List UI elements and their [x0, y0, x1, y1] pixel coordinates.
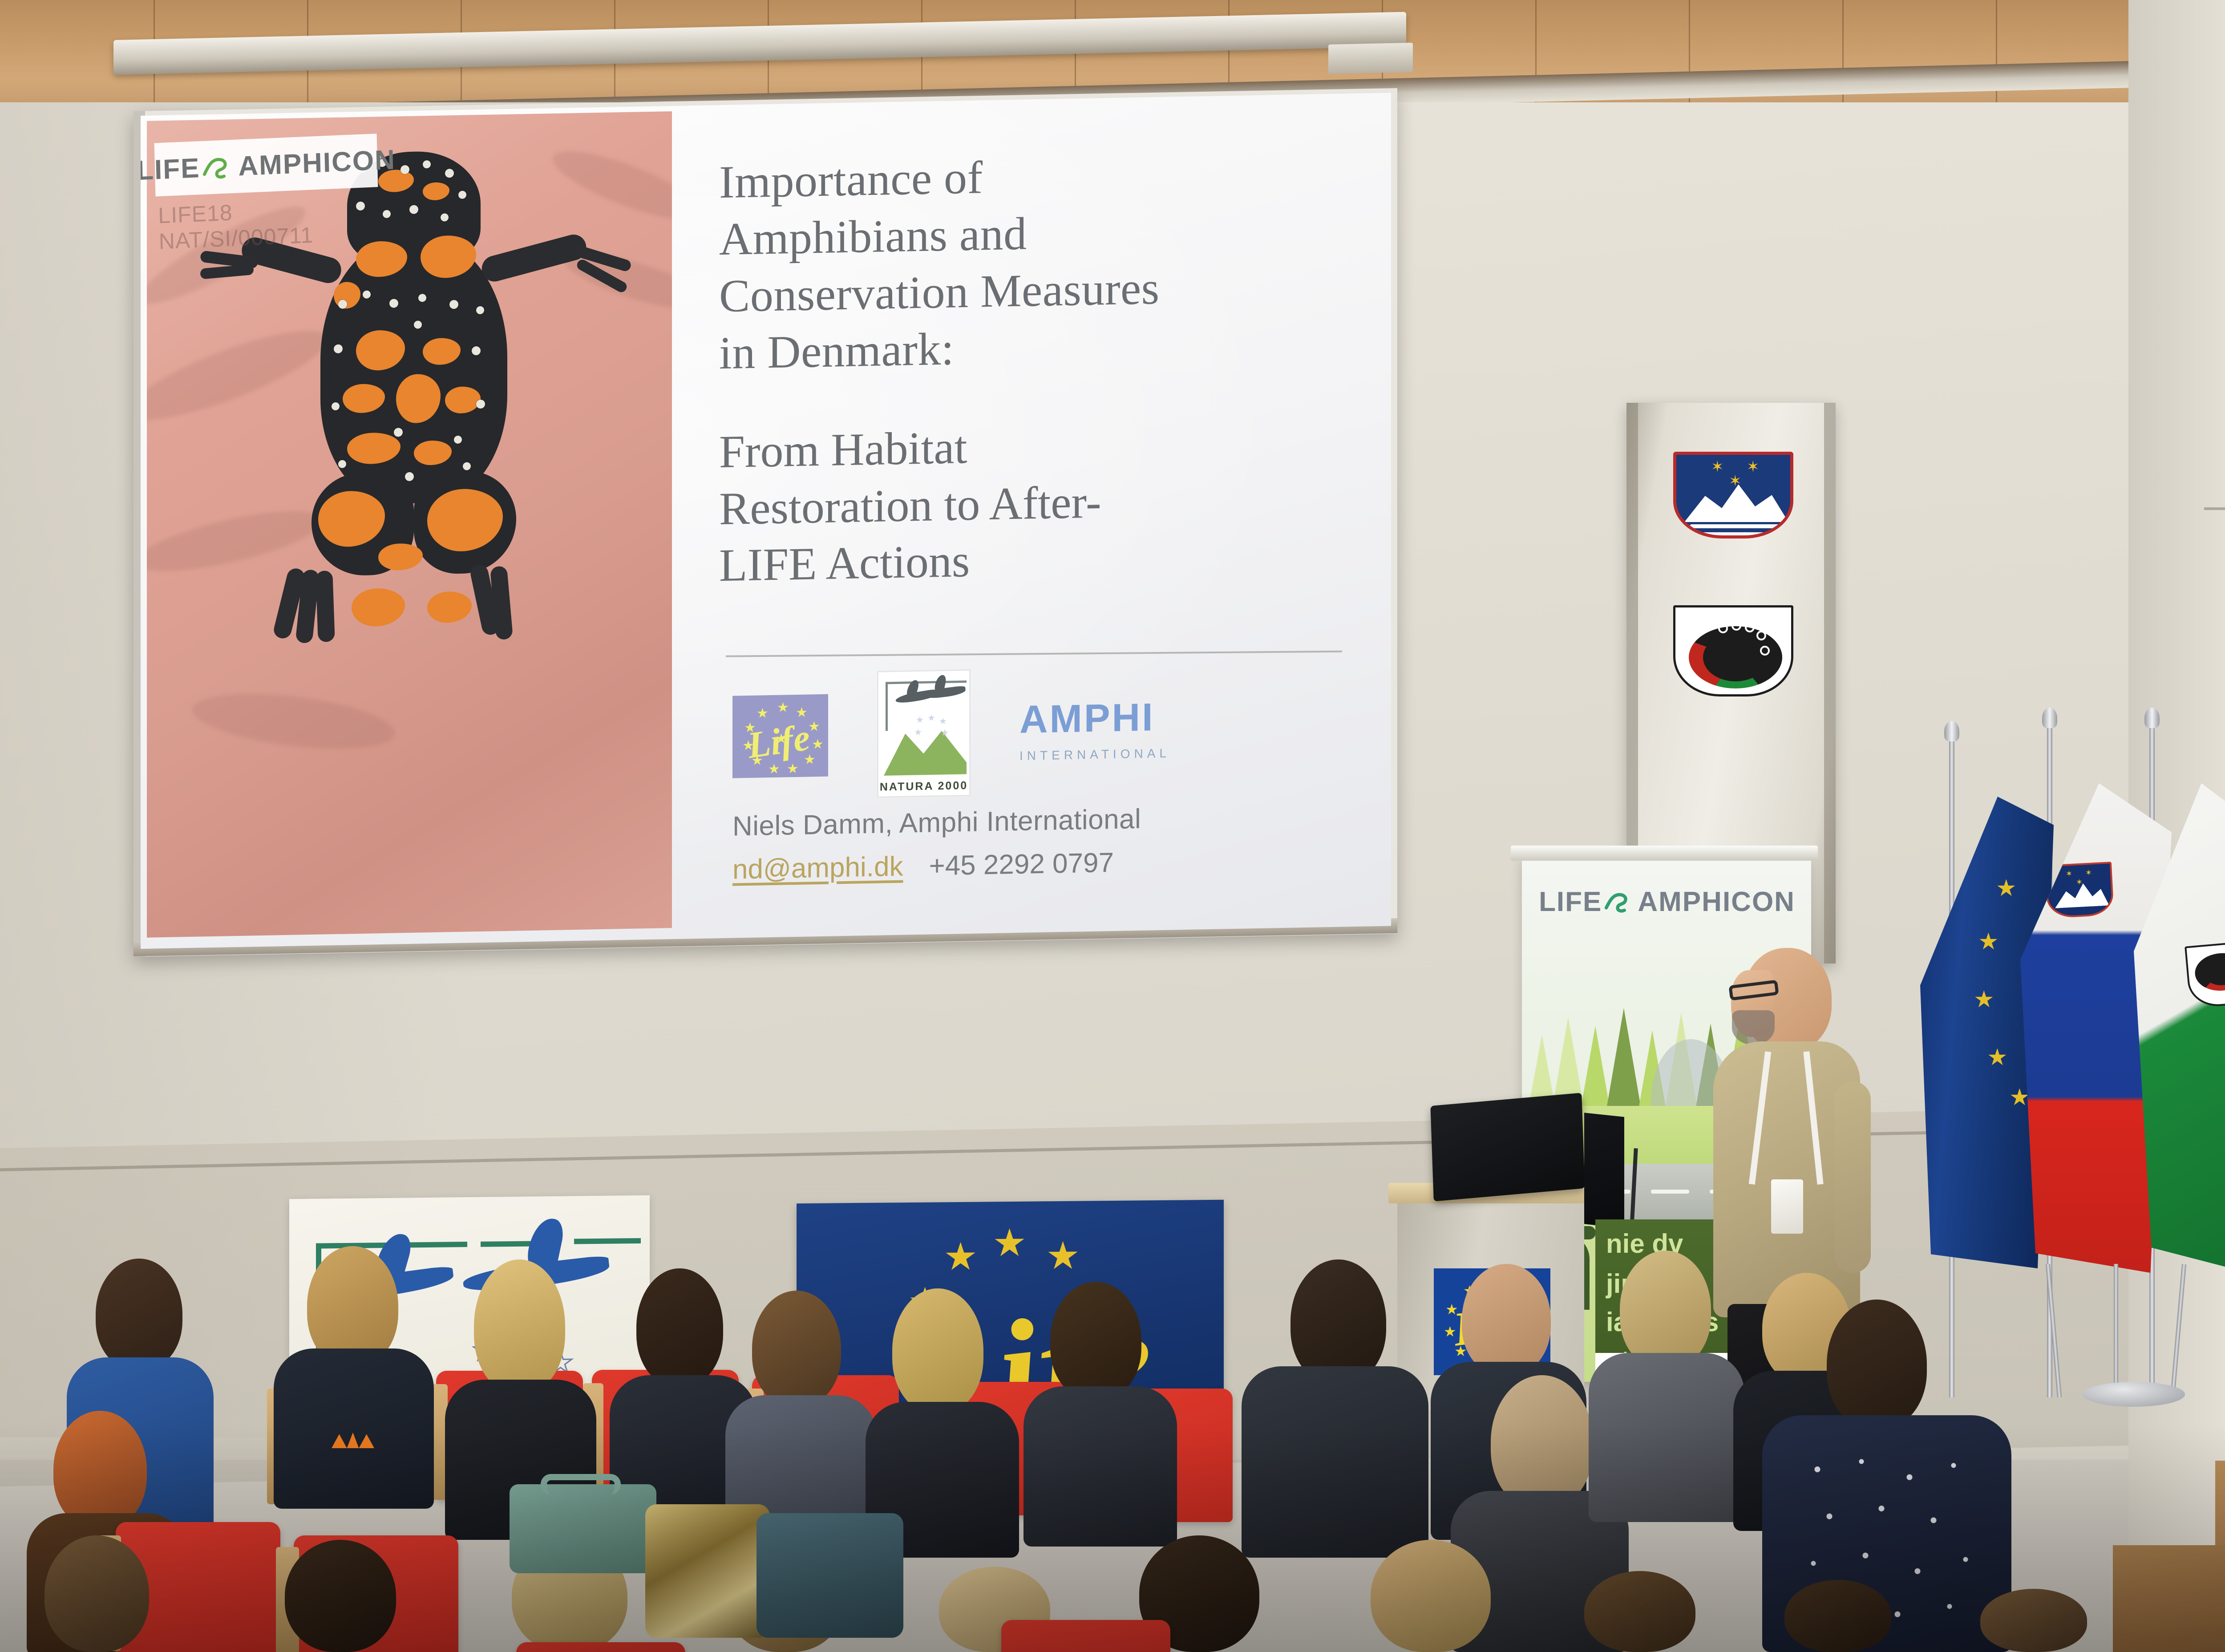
- flagpole-finial-eu: [1944, 721, 1959, 741]
- slide-amphicon-logo: LIFE AMPHICON: [154, 134, 378, 196]
- slide-text-block: Importance of Amphibians and Conservatio…: [719, 142, 1364, 595]
- municipal-core: [1703, 633, 1768, 681]
- contact-email-link[interactable]: nd@amphi.dk: [732, 851, 903, 886]
- second-monitor[interactable]: [1584, 1113, 1624, 1228]
- amphi-subtitle: INTERNATIONAL: [1019, 746, 1189, 763]
- slide-title-line-4: in Denmark:: [719, 313, 1364, 381]
- life-wordmark: Life: [745, 716, 813, 767]
- presenter-beard: [1732, 1010, 1775, 1045]
- slide-logo-row: ★ ★ ★ ★ ★ ★ ★ ★ ★ ★ ★ ★ Life: [732, 681, 1347, 781]
- flagpole-finial-slovenia: [2042, 708, 2057, 728]
- newt-icon: [202, 154, 237, 181]
- contact-phone: +45 2292 0797: [929, 847, 1113, 882]
- flagpole-finial-municipal: [2144, 708, 2160, 728]
- project-code: LIFE18 NAT/SI/000711: [158, 193, 391, 254]
- presentation-slide: LIFE AMPHICON LIFE18 NAT/SI/000711 Impor…: [141, 93, 1391, 949]
- slovenia-coat-of-arms: ✶ ✶ ✶: [1673, 452, 1793, 539]
- newt-icon: [1604, 889, 1636, 915]
- municipal-flag-coat-of-arms: [2185, 941, 2225, 1009]
- audience-area: [0, 1228, 2225, 1652]
- municipal-coat-of-arms: [1673, 605, 1793, 696]
- slide-title: Importance of Amphibians and Conservatio…: [719, 142, 1364, 382]
- rollup-top-rail: [1511, 846, 1818, 861]
- slide-subtitle: From Habitat Restoration to After- LIFE …: [719, 412, 1364, 594]
- rollup-life-text: LIFE: [1539, 886, 1602, 918]
- rollup-amphicon-logo: LIFE AMPHICON: [1547, 883, 1787, 921]
- pillar-seam: [2204, 507, 2225, 510]
- life-logo: ★ ★ ★ ★ ★ ★ ★ ★ ★ ★ ★ ★ Life: [732, 694, 828, 778]
- slide-logo-amphicon: AMPHICON: [238, 144, 396, 182]
- natura-label: NATURA 2000: [878, 779, 969, 794]
- natura-hills: [884, 721, 967, 775]
- name-badge: [1771, 1179, 1803, 1234]
- slide-logo-life: LIFE: [141, 152, 200, 186]
- presentation-room-photo: LIFE AMPHICON LIFE18 NAT/SI/000711 Impor…: [0, 0, 2225, 1652]
- projection-screen-housing-cap: [1328, 43, 1413, 74]
- natura2000-logo: ★ ★ ★ ★ ★ NATURA 2000: [877, 669, 971, 798]
- slide-contact-block: Niels Damm, Amphi International nd@amphi…: [732, 799, 1355, 886]
- amphi-international-logo: AMPHI INTERNATIONAL: [1019, 697, 1189, 763]
- laptop-screen[interactable]: [1430, 1093, 1585, 1201]
- amphi-wordmark: AMPHI: [1019, 697, 1189, 739]
- rollup-amphicon-text: AMPHICON: [1638, 886, 1795, 918]
- panel-right-edge: [1824, 403, 1836, 964]
- slide-subtitle-line-3: LIFE Actions: [719, 526, 1364, 594]
